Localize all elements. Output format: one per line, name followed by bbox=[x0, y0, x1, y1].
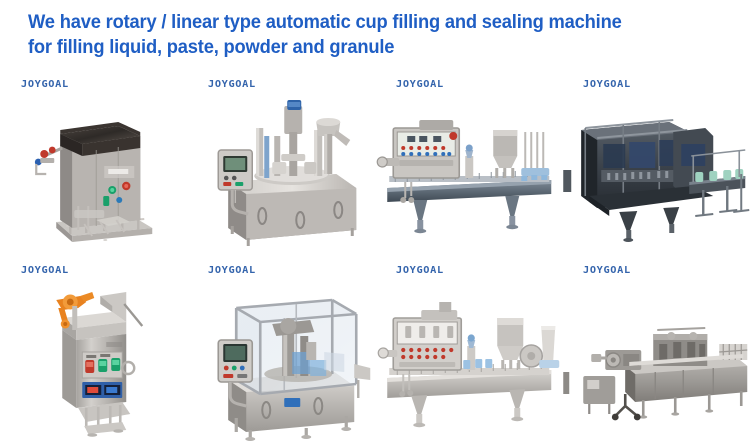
page-title: We have rotary / linear type automatic c… bbox=[28, 10, 686, 60]
joygoal-watermark: JOYGOAL bbox=[583, 265, 631, 276]
product-image-cell[interactable]: JOYGOAL bbox=[188, 70, 376, 256]
machine-photo-6 bbox=[188, 256, 376, 442]
machine-photo-4 bbox=[563, 70, 750, 256]
product-image-cell[interactable]: JOYGOAL bbox=[375, 256, 563, 442]
product-image-cell[interactable]: JOYGOAL bbox=[375, 70, 563, 256]
product-image-cell[interactable]: JOYGOAL bbox=[188, 256, 376, 442]
machine-photo-8 bbox=[563, 256, 750, 442]
product-image-grid: JOYGOAL bbox=[0, 70, 750, 442]
joygoal-watermark: JOYGOAL bbox=[583, 79, 631, 90]
joygoal-watermark: JOYGOAL bbox=[21, 265, 69, 276]
machine-photo-3 bbox=[375, 70, 563, 256]
product-image-cell[interactable]: JOYGOAL bbox=[0, 70, 188, 256]
product-image-cell[interactable]: JOYGOAL bbox=[563, 70, 750, 256]
machine-photo-5 bbox=[0, 256, 188, 442]
joygoal-watermark: JOYGOAL bbox=[208, 79, 256, 90]
product-image-cell[interactable]: JOYGOAL bbox=[563, 256, 750, 442]
joygoal-watermark: JOYGOAL bbox=[208, 265, 256, 276]
joygoal-watermark: JOYGOAL bbox=[21, 79, 69, 90]
joygoal-watermark: JOYGOAL bbox=[396, 79, 444, 90]
joygoal-watermark: JOYGOAL bbox=[396, 265, 444, 276]
product-image-cell[interactable]: JOYGOAL bbox=[0, 256, 188, 442]
machine-photo-2 bbox=[188, 70, 376, 256]
machine-photo-1 bbox=[0, 70, 188, 256]
machine-photo-7 bbox=[375, 256, 563, 442]
product-gallery-page: We have rotary / linear type automatic c… bbox=[0, 0, 750, 448]
